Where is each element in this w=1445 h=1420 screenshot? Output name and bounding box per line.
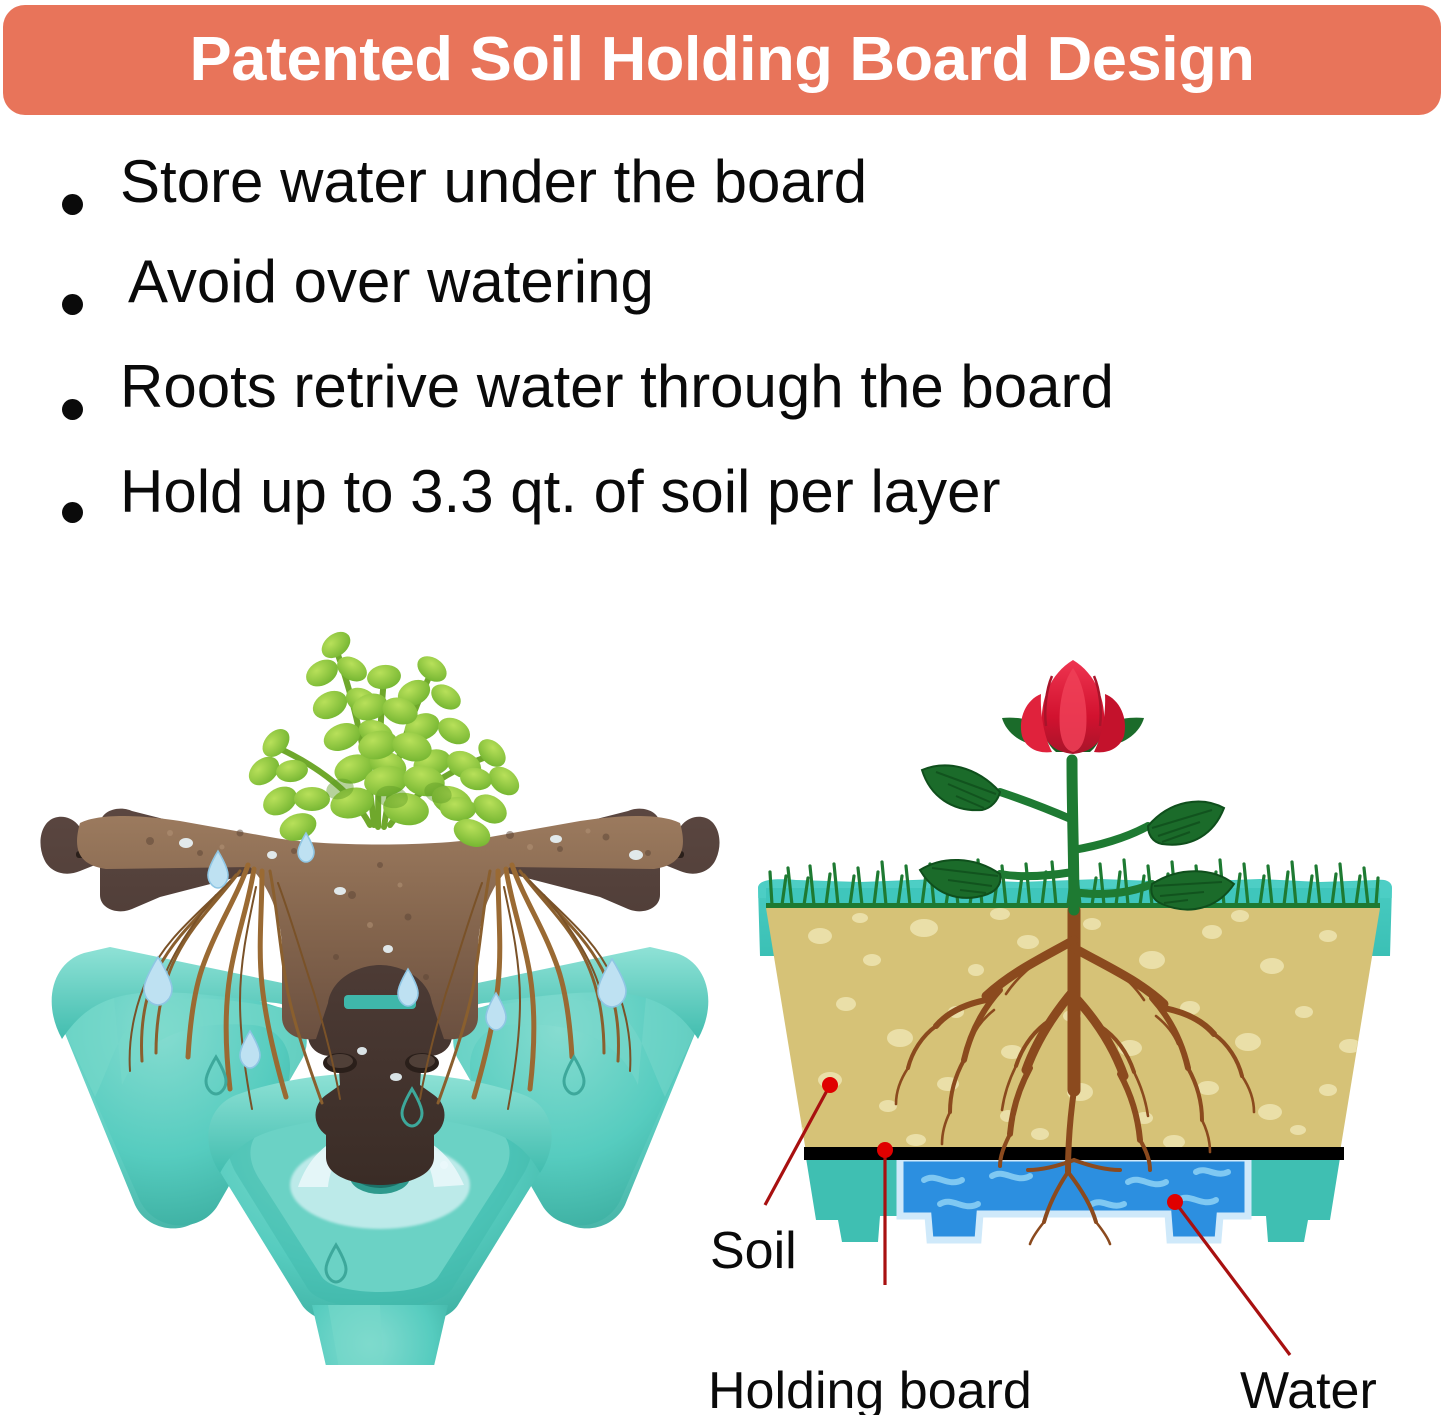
bullet-dot-icon: [62, 399, 83, 420]
rose-flower-icon: [1021, 660, 1125, 754]
bullet-dot-icon: [62, 194, 83, 215]
cross-section-diagram: Soil Holding board Water: [700, 660, 1445, 1415]
label-holding-board: Holding board: [708, 1362, 1032, 1415]
list-item: Roots retrive water through the board: [0, 357, 1445, 453]
page-title: Patented Soil Holding Board Design: [190, 29, 1255, 91]
plant-foliage: [243, 626, 524, 852]
header-banner: Patented Soil Holding Board Design: [3, 5, 1441, 115]
product-photo-planter: [40, 565, 720, 1365]
bullet-dot-icon: [62, 502, 83, 523]
label-soil: Soil: [710, 1222, 797, 1280]
bullet-label: Avoid over watering: [128, 252, 654, 312]
bullet-dot-icon: [62, 294, 83, 315]
list-item: Avoid over watering: [0, 252, 1445, 348]
rose-plant: [920, 660, 1234, 910]
list-item: Hold up to 3.3 qt. of soil per layer: [0, 462, 1445, 558]
label-water: Water: [1240, 1362, 1377, 1415]
bullet-label: Hold up to 3.3 qt. of soil per layer: [120, 462, 1001, 522]
bullet-label: Roots retrive water through the board: [120, 357, 1114, 417]
bullet-label: Store water under the board: [120, 152, 867, 212]
list-item: Store water under the board: [0, 152, 1445, 248]
